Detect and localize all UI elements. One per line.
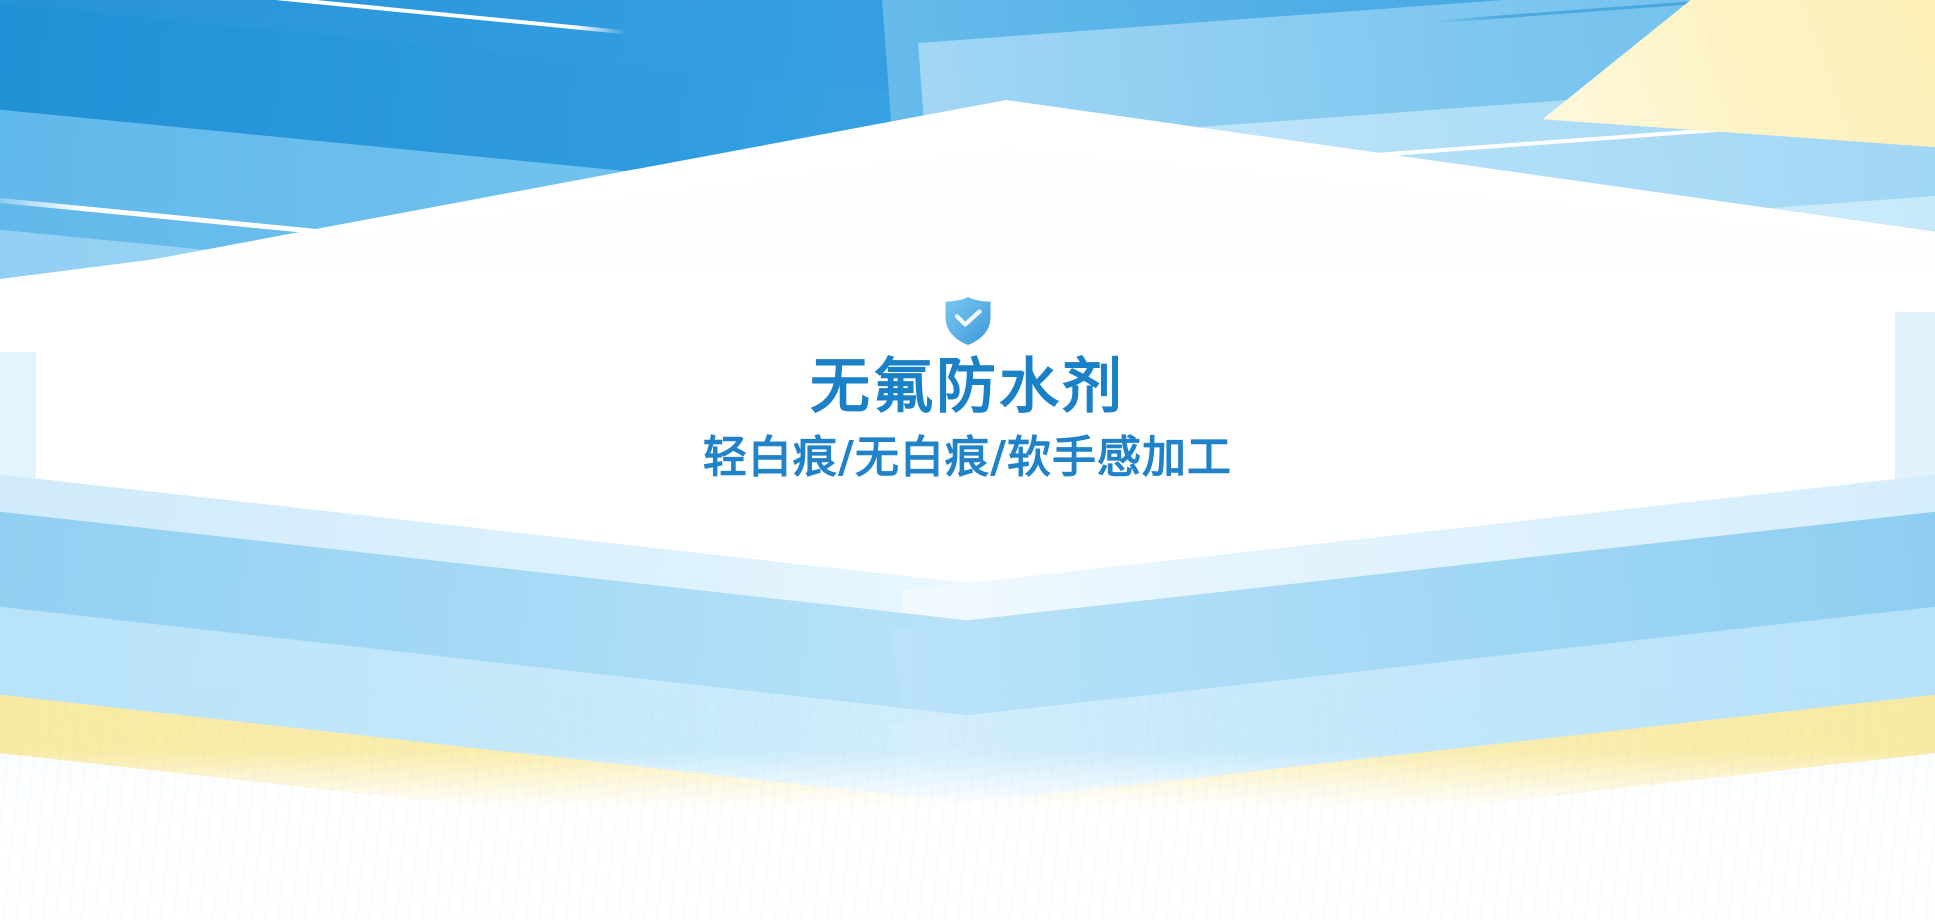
shield-check-icon bbox=[942, 296, 994, 346]
page-subtitle: 轻白痕/无白痕/软手感加工 bbox=[703, 434, 1232, 482]
page-title: 无氟防水剂 bbox=[810, 356, 1125, 420]
product-hero-banner: 无氟防水剂 轻白痕/无白痕/软手感加工 bbox=[0, 0, 1935, 920]
hero-content: 无氟防水剂 轻白痕/无白痕/软手感加工 bbox=[0, 0, 1935, 920]
